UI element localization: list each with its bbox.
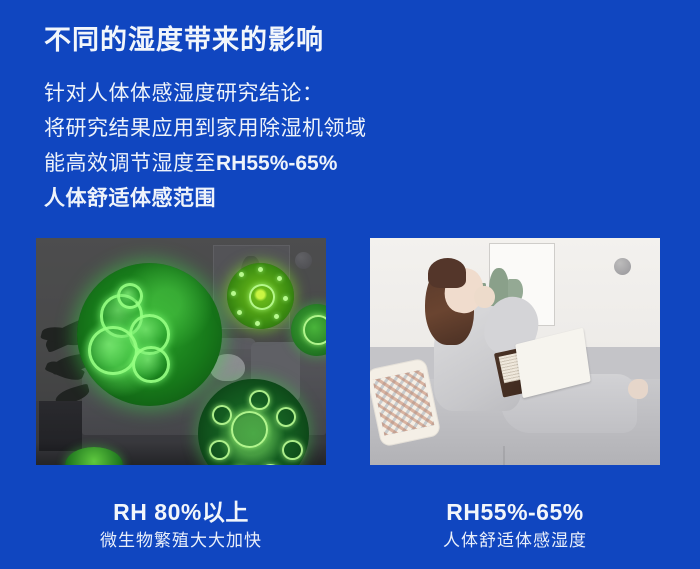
virus-spike-icon — [239, 272, 244, 277]
caption-comfort-humidity: RH55%-65% 人体舒适体感湿度 — [370, 497, 660, 554]
virus-spike-icon — [276, 407, 297, 427]
caption-subtitle: 微生物繁殖大大加快 — [36, 527, 326, 554]
caption-title: RH 80%以上 — [36, 497, 326, 527]
body-line-4: 人体舒适体感范围 — [44, 181, 367, 216]
person-foot — [628, 379, 648, 399]
virus-spike-icon — [237, 310, 242, 315]
virus-core-icon — [303, 315, 326, 345]
virus-spike-icon — [249, 390, 270, 410]
dark-room-scene — [36, 238, 326, 465]
virus-spike-icon — [258, 267, 263, 272]
caption-high-humidity: RH 80%以上 微生物繁殖大大加快 — [36, 497, 326, 554]
panel-comfort-humidity-image — [370, 238, 660, 465]
caption-subtitle: 人体舒适体感湿度 — [370, 527, 660, 554]
body-line-1: 针对人体体感湿度研究结论： — [44, 76, 367, 111]
virus-spike-icon — [274, 314, 279, 319]
bright-room-scene — [370, 238, 660, 465]
virus-spike-icon — [231, 291, 236, 296]
person-hand — [474, 286, 494, 309]
body-line-3: 能高效调节湿度至RH55%-65% — [44, 146, 367, 181]
microbe-sphere-large-icon — [77, 263, 222, 406]
person-hair-top — [428, 258, 466, 288]
virus-spike-icon — [260, 464, 281, 465]
panel-high-humidity-image — [36, 238, 326, 465]
poster-root: 不同的湿度带来的影响 针对人体体感湿度研究结论： 将研究结果应用到家用除湿机领域… — [0, 0, 700, 569]
virus-spike-icon — [283, 296, 288, 301]
body-line-2: 将研究结果应用到家用除湿机领域 — [44, 111, 367, 146]
virus-core-icon — [231, 411, 268, 448]
virus-spike-icon — [209, 440, 230, 460]
caption-title: RH55%-65% — [370, 497, 660, 527]
body-line-3-highlight: RH55%-65% — [216, 152, 337, 175]
virus-core-icon — [249, 284, 276, 310]
microbe-cell-icon — [132, 346, 170, 383]
microbe-sphere-virus-icon — [227, 263, 294, 329]
virus-spike-icon — [282, 440, 303, 460]
microbe-cell-icon — [88, 326, 138, 375]
virus-spike-icon — [255, 321, 260, 326]
sofa-seam — [503, 446, 505, 465]
virus-spike-icon — [277, 276, 282, 281]
page-title: 不同的湿度带来的影响 — [44, 18, 324, 57]
body-line-3-prefix: 能高效调节湿度至 — [44, 152, 216, 175]
virus-spike-icon — [212, 405, 233, 425]
body-text-block: 针对人体体感湿度研究结论： 将研究结果应用到家用除湿机领域 能高效调节湿度至RH… — [44, 76, 367, 216]
